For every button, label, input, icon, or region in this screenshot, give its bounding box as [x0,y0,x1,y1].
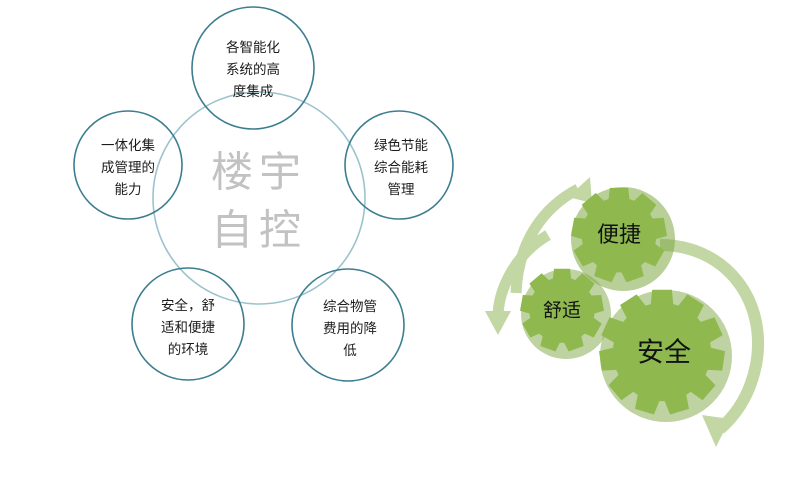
petal-label-left: 一体化集 成管理的 能力 [101,138,155,198]
petal-br-line-1: 综合物管 [323,299,377,315]
venn-diagram: 楼宇 自控 各智能化 系统的高 度集成 绿色节能 综合能耗 管理 综合物管 费用… [0,0,470,420]
petal-left-line-3: 能力 [115,182,142,198]
petal-bl-line-3: 的环境 [168,342,209,358]
center-label-line1: 楼宇 [211,148,307,197]
petal-label-right: 绿色节能 综合能耗 管理 [374,137,428,198]
petal-left-line-1: 一体化集 [101,138,155,154]
petal-left-line-2: 成管理的 [101,160,155,176]
petal-top-line-2: 系统的高 [226,61,280,78]
diagram-canvas: 楼宇 自控 各智能化 系统的高 度集成 绿色节能 综合能耗 管理 综合物管 费用… [0,0,812,493]
gear-label-safety: 安全 [637,338,691,369]
petal-top-line-1: 各智能化 [226,40,280,56]
petal-right-line-2: 综合能耗 [374,160,428,176]
petal-br-line-3: 低 [343,343,357,359]
petal-bl-line-2: 适和便捷 [161,320,215,336]
petal-top-line-3: 度集成 [233,84,274,100]
petal-right-line-3: 管理 [388,182,415,198]
petal-br-line-2: 费用的降 [323,321,377,337]
petal-label-top: 各智能化 系统的高 度集成 [226,40,280,100]
gear-label-convenience: 便捷 [597,223,641,248]
gear-label-comfort: 舒适 [543,300,581,322]
gear-cluster: 便捷舒适安全 [480,175,800,465]
center-label-line2: 自控 [211,206,307,255]
hub-circle [153,92,365,304]
center-label: 楼宇 自控 [211,148,307,255]
petal-right-line-1: 绿色节能 [374,137,428,154]
petal-label-bottom-left: 安全，舒 适和便捷 的环境 [161,297,215,358]
petal-label-bottom-right: 综合物管 费用的降 低 [323,299,377,359]
petal-bl-line-1: 安全，舒 [161,297,215,314]
